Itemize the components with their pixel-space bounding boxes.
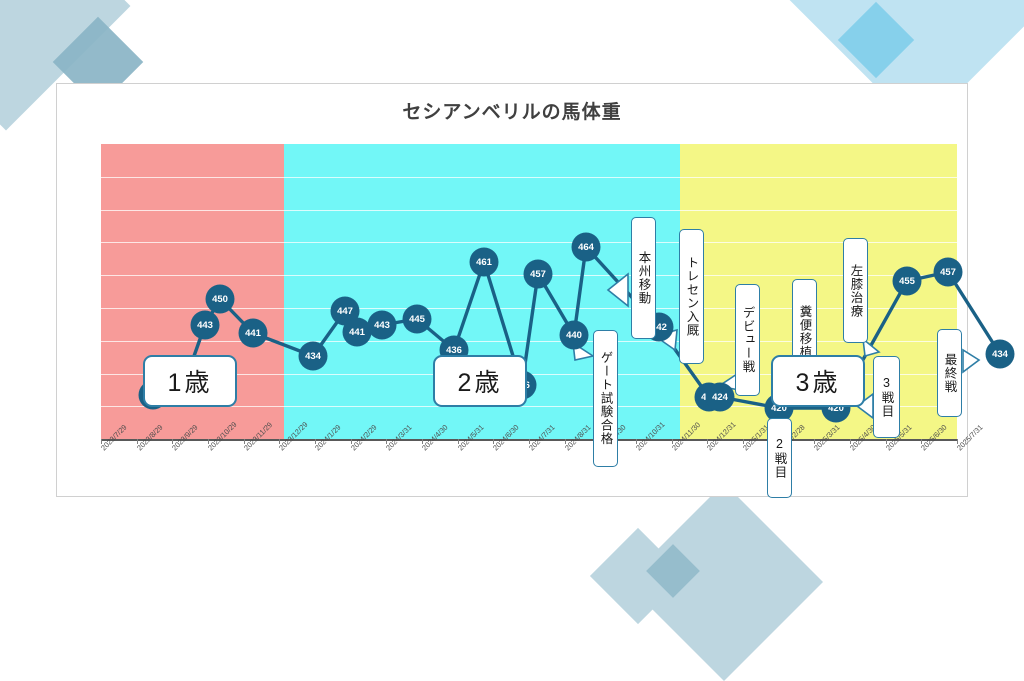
tail-final-race	[963, 350, 979, 372]
series-line-layer	[57, 84, 969, 498]
data-point: 424	[707, 384, 733, 410]
data-point: 440	[561, 322, 587, 348]
callout-training-center-label: トレセン入厩	[685, 256, 699, 337]
age-label-3: 3歳	[771, 355, 865, 407]
callout-final-race: 最終戦	[937, 329, 962, 417]
callout-fecal-transplant-label: 糞便移植	[798, 305, 812, 359]
callout-race-3-label: 3戦目	[880, 376, 894, 418]
tail-honshu-move	[608, 274, 628, 306]
data-point: 434	[300, 343, 326, 369]
callout-training-center: トレセン入厩	[679, 229, 704, 364]
data-point: 441	[240, 320, 266, 346]
callout-final-race-label: 最終戦	[943, 353, 957, 394]
data-point: 443	[192, 312, 218, 338]
chart-card: セシアンベリルの馬体重 2023/7/292023/8/292023/9/292…	[56, 83, 968, 497]
callout-race-2-label: 2戦目	[773, 437, 787, 479]
deco-diamond-overlap-bottom	[646, 544, 700, 598]
data-point: 457	[935, 259, 961, 285]
data-point: 457	[525, 261, 551, 287]
age-label-1-text: 1歳	[168, 363, 213, 399]
age-label-3-text: 3歳	[796, 363, 841, 399]
age-label-2: 2歳	[433, 355, 527, 407]
callout-honshu-move-label: 本州移動	[637, 251, 651, 305]
callout-gate-test-pass-label: ゲート試験合格	[599, 351, 613, 446]
callout-debut-race-label: デビュー戦	[741, 306, 755, 374]
callout-race-3: 3戦目	[873, 356, 900, 438]
callout-honshu-move: 本州移動	[631, 217, 656, 339]
callout-debut-race: デビュー戦	[735, 284, 760, 396]
deco-diamond-small-bottom	[590, 528, 686, 624]
data-point: 434	[987, 341, 1013, 367]
deco-diamond-small-topright	[838, 2, 914, 78]
age-label-2-text: 2歳	[458, 363, 503, 399]
data-point: 455	[894, 268, 920, 294]
callout-left-knee-therapy-label: 左膝治療	[849, 264, 863, 318]
age-label-1: 1歳	[143, 355, 237, 407]
data-point: 450	[207, 286, 233, 312]
deco-diamond-large-bottom	[625, 483, 823, 681]
data-point: 461	[471, 249, 497, 275]
callout-left-knee-therapy: 左膝治療	[843, 238, 868, 343]
data-point: 445	[404, 306, 430, 332]
callout-gate-test-pass: ゲート試験合格	[593, 330, 618, 467]
data-point: 441	[344, 319, 370, 345]
data-point: 443	[369, 312, 395, 338]
data-point: 464	[573, 234, 599, 260]
callout-race-2: 2戦目	[767, 418, 792, 498]
